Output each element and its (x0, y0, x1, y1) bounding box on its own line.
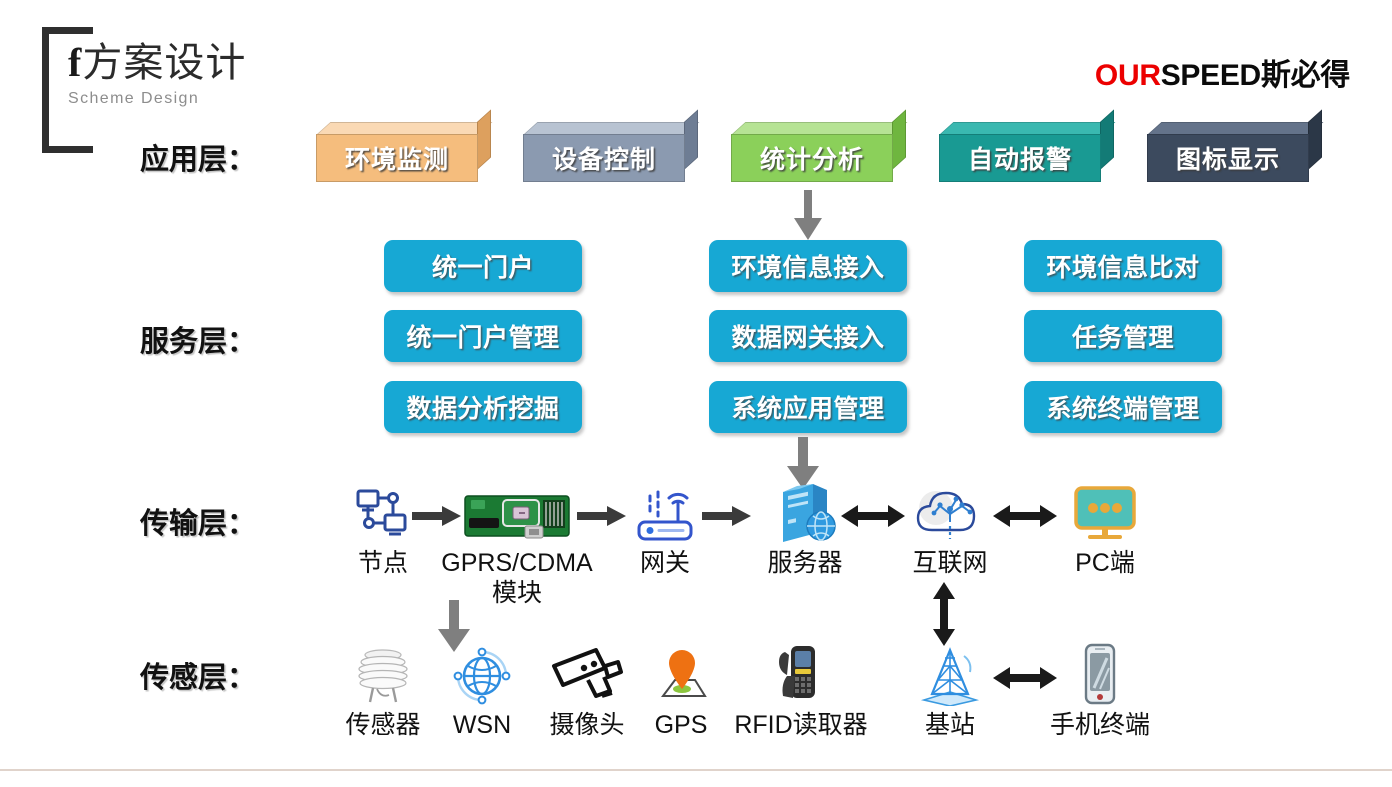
service-pill-label: 系统应用管理 (731, 389, 884, 425)
base-station-icon (912, 640, 988, 706)
transport-node-gprs-module[interactable]: GPRS/CDMA 模块 (452, 478, 582, 608)
cube-front-face: 设备控制 (523, 134, 685, 182)
page-title: f方案设计 Scheme Design (68, 40, 246, 108)
sensing-node-label: 基站 (925, 710, 975, 740)
transport-node-gateway[interactable]: 网关 (600, 478, 730, 578)
service-pill-label: 数据网关接入 (731, 318, 884, 354)
app-box-label: 设备控制 (552, 140, 656, 176)
slide-canvas: f方案设计 Scheme Design OURSPEED斯必得 应用层： 服务层… (0, 0, 1392, 787)
sensing-node-mobile-terminal[interactable]: 手机终端 (1030, 640, 1170, 740)
pc-monitor-icon (1070, 478, 1140, 544)
cube-side-face (684, 109, 698, 170)
sensing-node-label: 传感器 (345, 710, 420, 740)
app-box-device-control[interactable]: 设备控制 (523, 122, 685, 182)
cube-side-face (1308, 109, 1322, 170)
gprs-module-icon (463, 478, 571, 544)
cctv-camera-icon (548, 640, 626, 706)
service-pill-label: 任务管理 (1072, 318, 1174, 354)
service-pill-label: 数据分析挖掘 (406, 389, 559, 425)
service-pill-task-mgmt[interactable]: 任务管理 (1024, 310, 1222, 362)
transport-node-node[interactable]: 节点 (318, 478, 448, 578)
cube-side-face (892, 109, 906, 170)
service-pill-unified-portal[interactable]: 统一门户 (384, 240, 582, 292)
transport-node-label: 服务器 (767, 548, 842, 578)
service-pill-label: 系统终端管理 (1046, 389, 1199, 425)
service-pill-label: 环境信息比对 (1046, 248, 1199, 284)
mobile-phone-icon (1077, 640, 1123, 706)
cube-front-face: 自动报警 (939, 134, 1101, 182)
service-pill-system-app-mgmt[interactable]: 系统应用管理 (709, 381, 907, 433)
transport-node-label: GPRS/CDMA 模块 (441, 548, 592, 608)
service-pill-data-gateway-access[interactable]: 数据网关接入 (709, 310, 907, 362)
brand-logo: OURSPEED斯必得 (1095, 50, 1350, 94)
weather-sensor-icon (347, 640, 419, 706)
network-node-icon (352, 478, 414, 544)
transport-node-pc[interactable]: PC端 (1040, 478, 1170, 578)
transport-node-label: PC端 (1075, 548, 1135, 578)
transport-node-label: 互联网 (912, 548, 987, 578)
brand-red-text: OUR (1095, 59, 1161, 92)
sensing-node-label: 手机终端 (1050, 710, 1150, 740)
service-pill-data-analysis-mining[interactable]: 数据分析挖掘 (384, 381, 582, 433)
cube-side-face (477, 109, 491, 170)
app-box-label: 自动报警 (968, 140, 1072, 176)
sensing-node-label: RFID读取器 (734, 710, 867, 740)
cube-side-face (1100, 109, 1114, 170)
service-pill-label: 环境信息接入 (731, 248, 884, 284)
app-box-icon-display[interactable]: 图标显示 (1147, 122, 1309, 182)
service-pill-env-info-access[interactable]: 环境信息接入 (709, 240, 907, 292)
service-pill-unified-portal-mgmt[interactable]: 统一门户管理 (384, 310, 582, 362)
app-box-label: 图标显示 (1176, 140, 1280, 176)
service-pill-label: 统一门户管理 (406, 318, 559, 354)
brand-dark-text: SPEED斯必得 (1161, 59, 1350, 92)
app-box-label: 环境监测 (345, 140, 449, 176)
cube-front-face: 环境监测 (316, 134, 478, 182)
title-prefix-letter: f (68, 40, 82, 85)
service-pill-system-terminal-mgmt[interactable]: 系统终端管理 (1024, 381, 1222, 433)
title-main-text: 方案设计 (82, 40, 246, 86)
wsn-globe-icon (449, 640, 515, 706)
sensing-node-label: GPS (655, 710, 708, 740)
footer-divider (0, 769, 1392, 771)
router-gateway-icon (633, 478, 697, 544)
gps-pin-icon (649, 640, 713, 706)
layer-label-application: 应用层： (140, 136, 256, 178)
layer-label-transport: 传输层： (140, 500, 256, 542)
app-box-statistical-analysis[interactable]: 统计分析 (731, 122, 893, 182)
sensing-node-label: 摄像头 (549, 710, 624, 740)
layer-label-sensing: 传感层： (140, 654, 256, 696)
arrow-app-to-service (793, 190, 823, 242)
sensing-node-rfid-reader[interactable]: RFID读取器 (726, 640, 876, 740)
transport-node-label: 节点 (358, 548, 408, 578)
transport-node-label: 网关 (640, 548, 690, 578)
app-box-environment-monitoring[interactable]: 环境监测 (316, 122, 478, 182)
server-icon (769, 478, 841, 544)
arrow-internet-basestation-bidirectional (931, 582, 957, 646)
title-subtitle: Scheme Design (68, 90, 246, 108)
layer-label-service: 服务层： (140, 318, 256, 360)
service-pill-label: 统一门户 (432, 248, 534, 284)
cube-front-face: 图标显示 (1147, 134, 1309, 182)
cube-front-face: 统计分析 (731, 134, 893, 182)
rfid-reader-icon (771, 640, 831, 706)
service-pill-env-info-compare[interactable]: 环境信息比对 (1024, 240, 1222, 292)
sensing-node-label: WSN (453, 710, 511, 740)
app-box-label: 统计分析 (760, 140, 864, 176)
app-box-auto-alarm[interactable]: 自动报警 (939, 122, 1101, 182)
cloud-internet-icon (912, 478, 988, 544)
